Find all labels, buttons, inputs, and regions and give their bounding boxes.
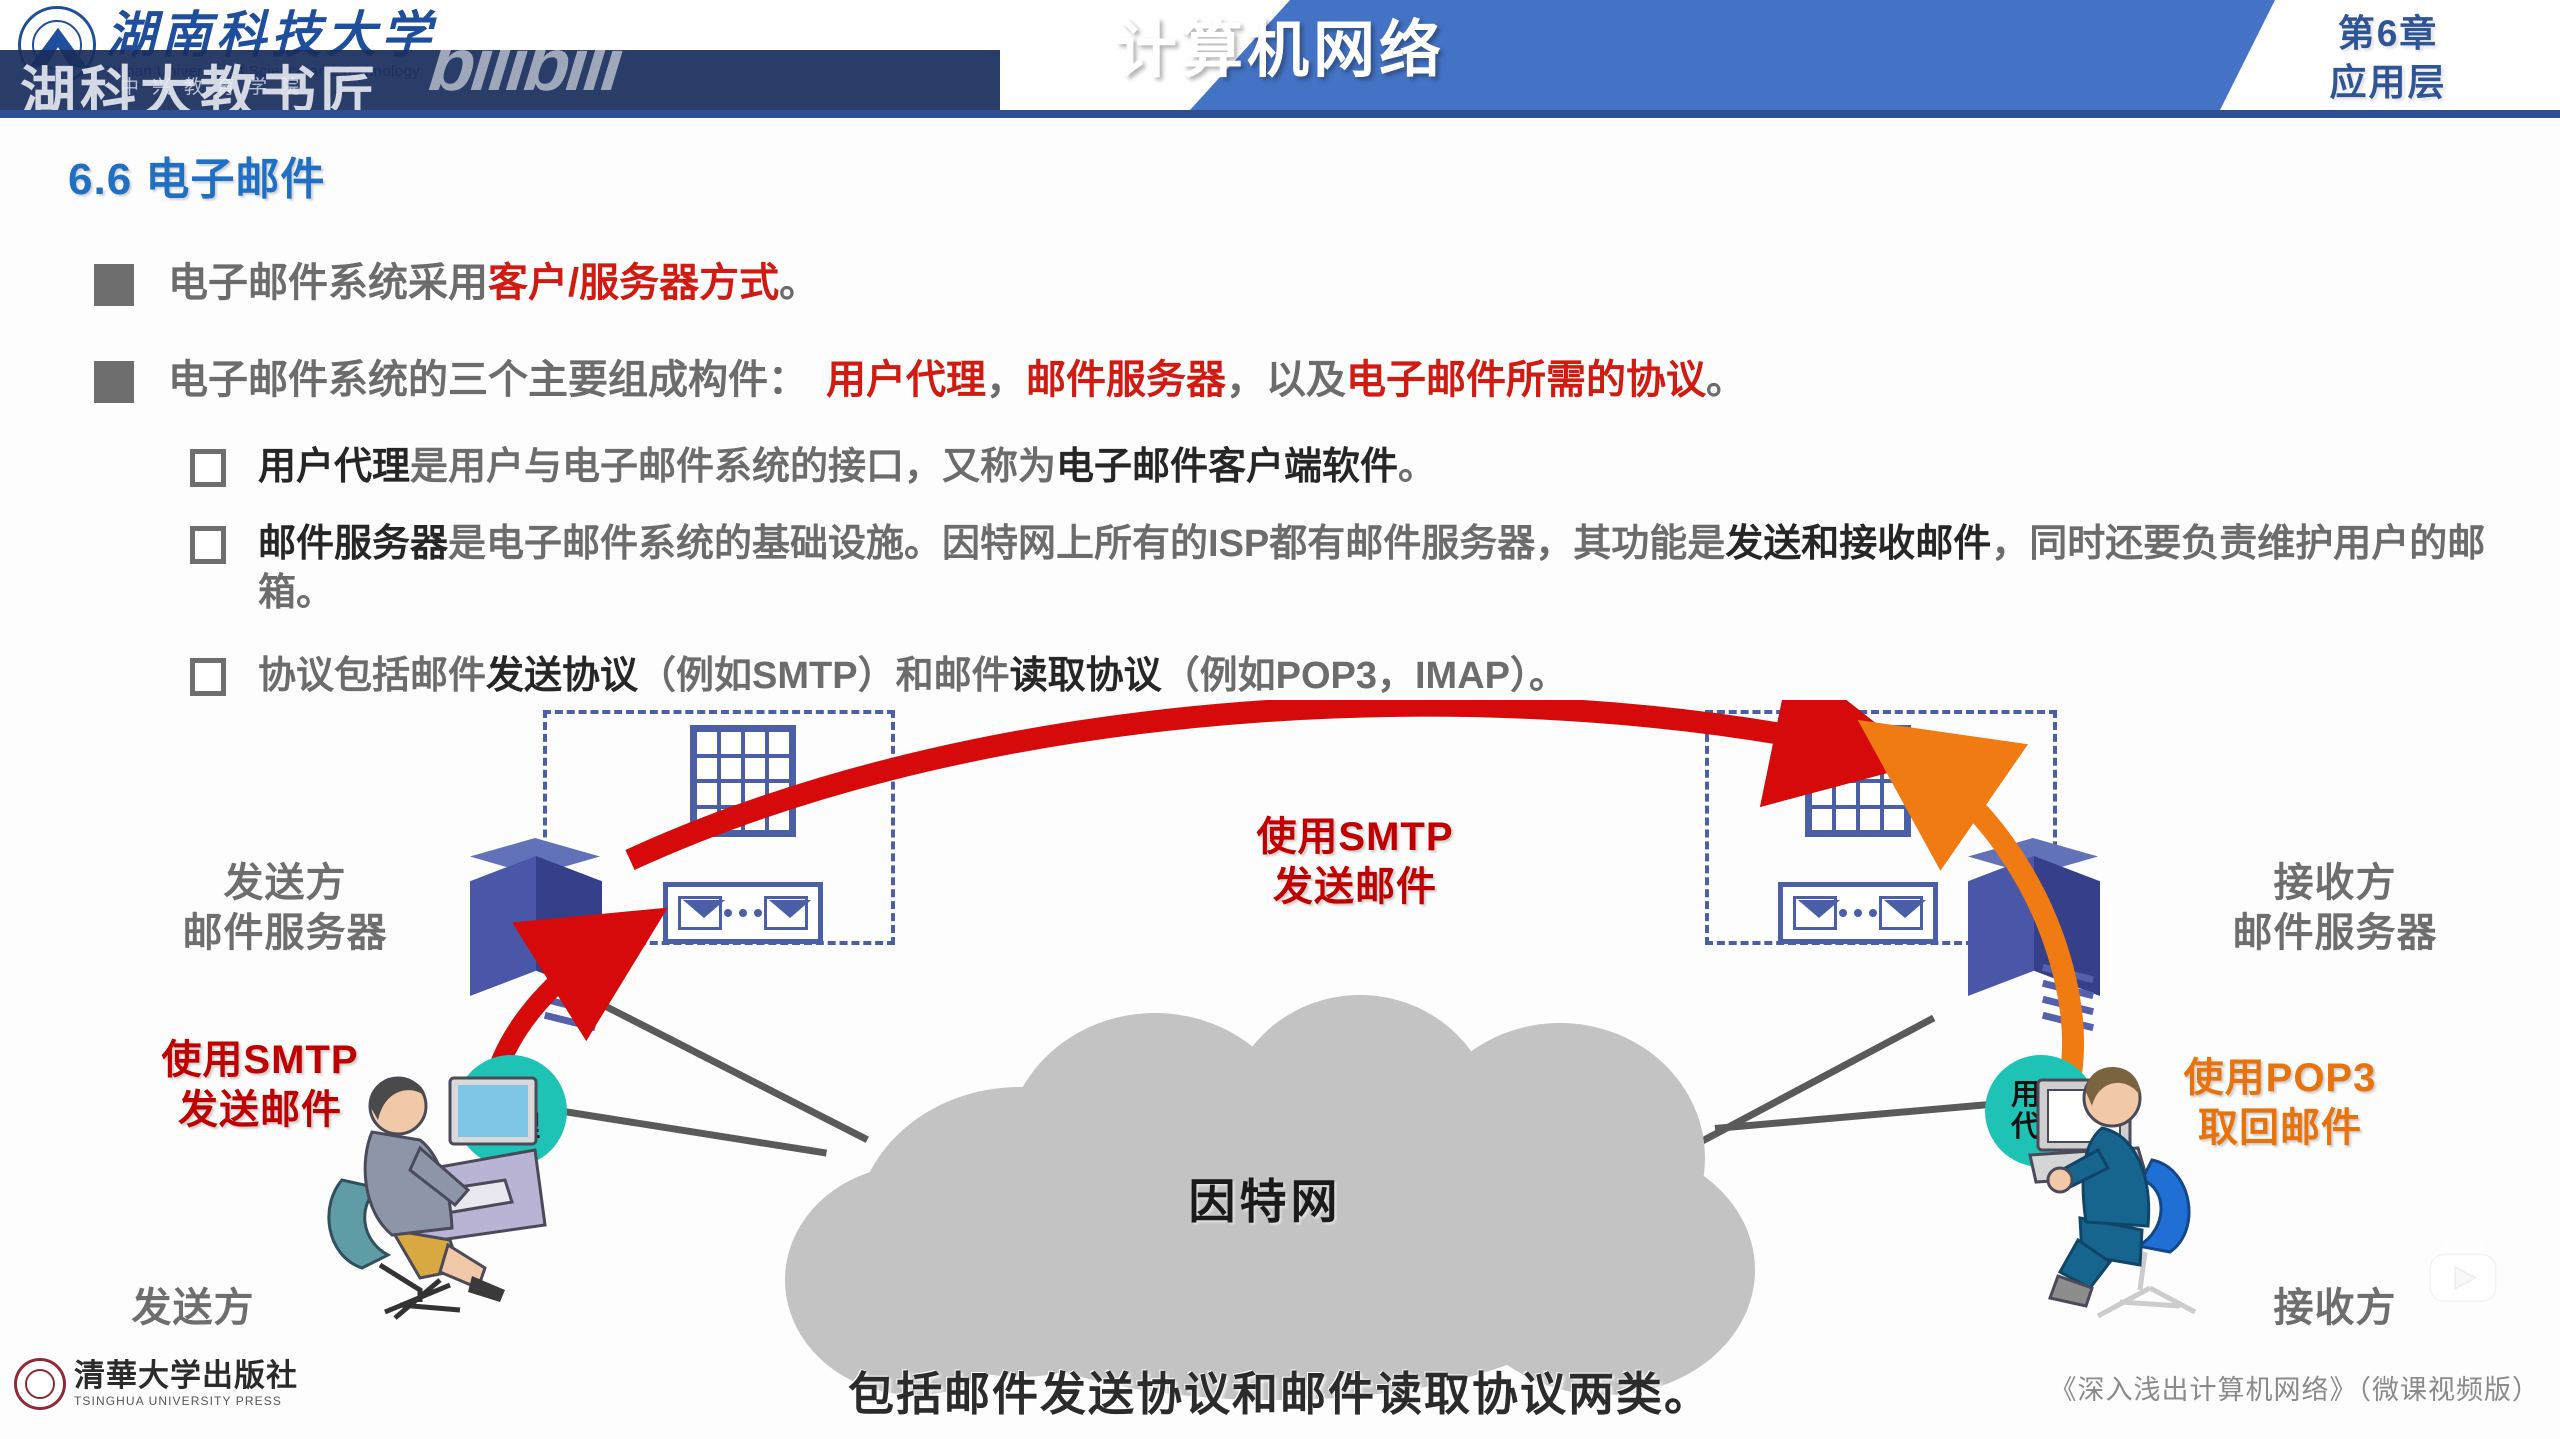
bullet-2-highlight-3: 电子邮件所需的协议 bbox=[1346, 358, 1706, 402]
pop3-label-line2: 取回邮件 bbox=[2125, 1103, 2435, 1153]
bilibili-watermark-logo: bilibili bbox=[426, 22, 625, 107]
smtp-main-label: 使用SMTP 发送邮件 bbox=[1185, 812, 1525, 913]
bullet-5-bold-1: 发送协议 bbox=[486, 655, 638, 697]
sender-server-label: 发送方 邮件服务器 bbox=[120, 858, 450, 959]
bullet-4-bold-1: 邮件服务器 bbox=[258, 523, 448, 565]
bullet-item-2: 电子邮件系统的三个主要组成构件：用户代理，邮件服务器，以及电子邮件所需的协议。 bbox=[94, 355, 1746, 406]
header-underline bbox=[0, 110, 2560, 118]
sender-mail-server-icon bbox=[452, 838, 622, 1038]
pop3-label: 使用POP3 取回邮件 bbox=[2125, 1053, 2435, 1154]
sender-server-label-line1: 发送方 bbox=[120, 858, 450, 908]
bullet-4-bold-2: 发送和接收邮件 bbox=[1725, 523, 1991, 565]
bullet-hollow-square-icon bbox=[190, 526, 226, 564]
chapter-badge: 第6章 应用层 bbox=[2228, 10, 2548, 108]
bullet-3-part-2: 。 bbox=[1398, 446, 1436, 488]
chapter-name: 应用层 bbox=[2228, 59, 2548, 108]
bullet-2-part-2: 。 bbox=[1706, 358, 1746, 402]
server-left-face bbox=[1968, 856, 2034, 996]
receiver-server-label-line1: 接收方 bbox=[2160, 858, 2510, 908]
bullet-4-text: 邮件服务器是电子邮件系统的基础设施。因特网上所有的ISP都有邮件服务器，其功能是… bbox=[258, 520, 2500, 617]
cloud-label: 因特网 bbox=[755, 995, 1775, 1400]
smtp-left-label: 使用SMTP 发送邮件 bbox=[110, 1035, 410, 1136]
bullet-2-part-1: 电子邮件系统的三个主要组成构件： bbox=[168, 358, 808, 402]
smtp-left-label-line2: 发送邮件 bbox=[110, 1085, 410, 1135]
book-credit: 《深入浅出计算机网络》（微课视频版） bbox=[2050, 1368, 2541, 1407]
receiver-server-label-line2: 邮件服务器 bbox=[2160, 908, 2510, 958]
slide-root: 湖南科技大学 Hunan University of Science and T… bbox=[0, 0, 2560, 1439]
mailbox-grid-icon bbox=[690, 725, 796, 837]
envelope-icon bbox=[678, 896, 722, 930]
server-left-face bbox=[470, 856, 536, 996]
bullet-2-highlight-1: 用户代理 bbox=[826, 358, 986, 402]
bullet-square-icon bbox=[94, 361, 134, 403]
bullet-item-1: 电子邮件系统采用客户/服务器方式。 bbox=[94, 258, 819, 309]
bullet-2-sep-1: ， bbox=[986, 358, 1026, 402]
mail-queue-icon bbox=[1778, 882, 1938, 944]
bullet-1-text: 电子邮件系统采用客户/服务器方式。 bbox=[168, 258, 819, 309]
mail-queue-icon bbox=[663, 882, 823, 944]
bilibili-player-icon bbox=[2424, 1240, 2502, 1308]
bullet-5-text: 协议包括邮件发送协议（例如SMTP）和邮件读取协议（例如POP3，IMAP）。 bbox=[258, 652, 1567, 701]
envelope-icon bbox=[764, 896, 808, 930]
bullet-5-part-1: 协议包括邮件 bbox=[258, 655, 486, 697]
bullet-3-bold-2: 电子邮件客户端软件 bbox=[1056, 446, 1398, 488]
smtp-left-label-line1: 使用SMTP bbox=[110, 1035, 410, 1085]
mailbox-grid-icon bbox=[1805, 725, 1911, 837]
bullet-1-part-1: 电子邮件系统采用 bbox=[168, 261, 488, 305]
ellipsis-dots-icon bbox=[724, 909, 762, 917]
page-title: 6.6 电子邮件 bbox=[68, 143, 325, 207]
bullet-item-5: 协议包括邮件发送协议（例如SMTP）和邮件读取协议（例如POP3，IMAP）。 bbox=[190, 652, 1567, 701]
smtp-main-label-line2: 发送邮件 bbox=[1185, 862, 1525, 912]
bullet-3-part-1: 是用户与电子邮件系统的接口，又称为 bbox=[410, 446, 1056, 488]
bullet-2-text: 电子邮件系统的三个主要组成构件：用户代理，邮件服务器，以及电子邮件所需的协议。 bbox=[168, 355, 1746, 406]
bullet-hollow-square-icon bbox=[190, 449, 226, 487]
bullet-2-sep-2: ，以及 bbox=[1226, 358, 1346, 402]
bullet-1-part-2: 。 bbox=[779, 261, 819, 305]
receiver-label: 接收方 bbox=[2215, 1283, 2455, 1333]
bullet-hollow-square-icon bbox=[190, 658, 226, 696]
envelope-icon bbox=[1793, 896, 1837, 930]
bullet-5-part-3: （例如POP3，IMAP）。 bbox=[1162, 655, 1567, 697]
ellipsis-dots-icon bbox=[1839, 909, 1877, 917]
sender-server-label-line2: 邮件服务器 bbox=[120, 908, 450, 958]
receiver-server-label: 接收方 邮件服务器 bbox=[2160, 858, 2510, 959]
bullet-5-bold-2: 读取协议 bbox=[1010, 655, 1162, 697]
bullet-item-4: 邮件服务器是电子邮件系统的基础设施。因特网上所有的ISP都有邮件服务器，其功能是… bbox=[190, 520, 2500, 617]
receiver-mail-server-icon bbox=[1950, 838, 2120, 1038]
bullet-3-bold-1: 用户代理 bbox=[258, 446, 410, 488]
internet-cloud: 因特网 bbox=[755, 995, 1775, 1400]
bullet-item-3: 用户代理是用户与电子邮件系统的接口，又称为电子邮件客户端软件。 bbox=[190, 443, 1436, 492]
envelope-icon bbox=[1879, 896, 1923, 930]
pop3-label-line1: 使用POP3 bbox=[2125, 1053, 2435, 1103]
bullet-2-highlight-2: 邮件服务器 bbox=[1026, 358, 1226, 402]
slide-header: 湖南科技大学 Hunan University of Science and T… bbox=[0, 0, 2560, 118]
chapter-number: 第6章 bbox=[2228, 10, 2548, 59]
bullet-5-part-2: （例如SMTP）和邮件 bbox=[638, 655, 1010, 697]
smtp-main-label-line1: 使用SMTP bbox=[1185, 812, 1525, 862]
course-title: 计算机网络 bbox=[1000, 6, 1560, 96]
bullet-1-highlight-1: 客户/服务器方式 bbox=[488, 261, 779, 305]
bullet-4-part-1: 是电子邮件系统的基础设施。因特网上所有的ISP都有邮件服务器，其功能是 bbox=[448, 523, 1725, 565]
email-architecture-diagram: 因特网 bbox=[0, 700, 2560, 1439]
sender-label: 发送方 bbox=[78, 1283, 308, 1333]
bullet-square-icon bbox=[94, 264, 134, 306]
bullet-3-text: 用户代理是用户与电子邮件系统的接口，又称为电子邮件客户端软件。 bbox=[258, 443, 1436, 492]
